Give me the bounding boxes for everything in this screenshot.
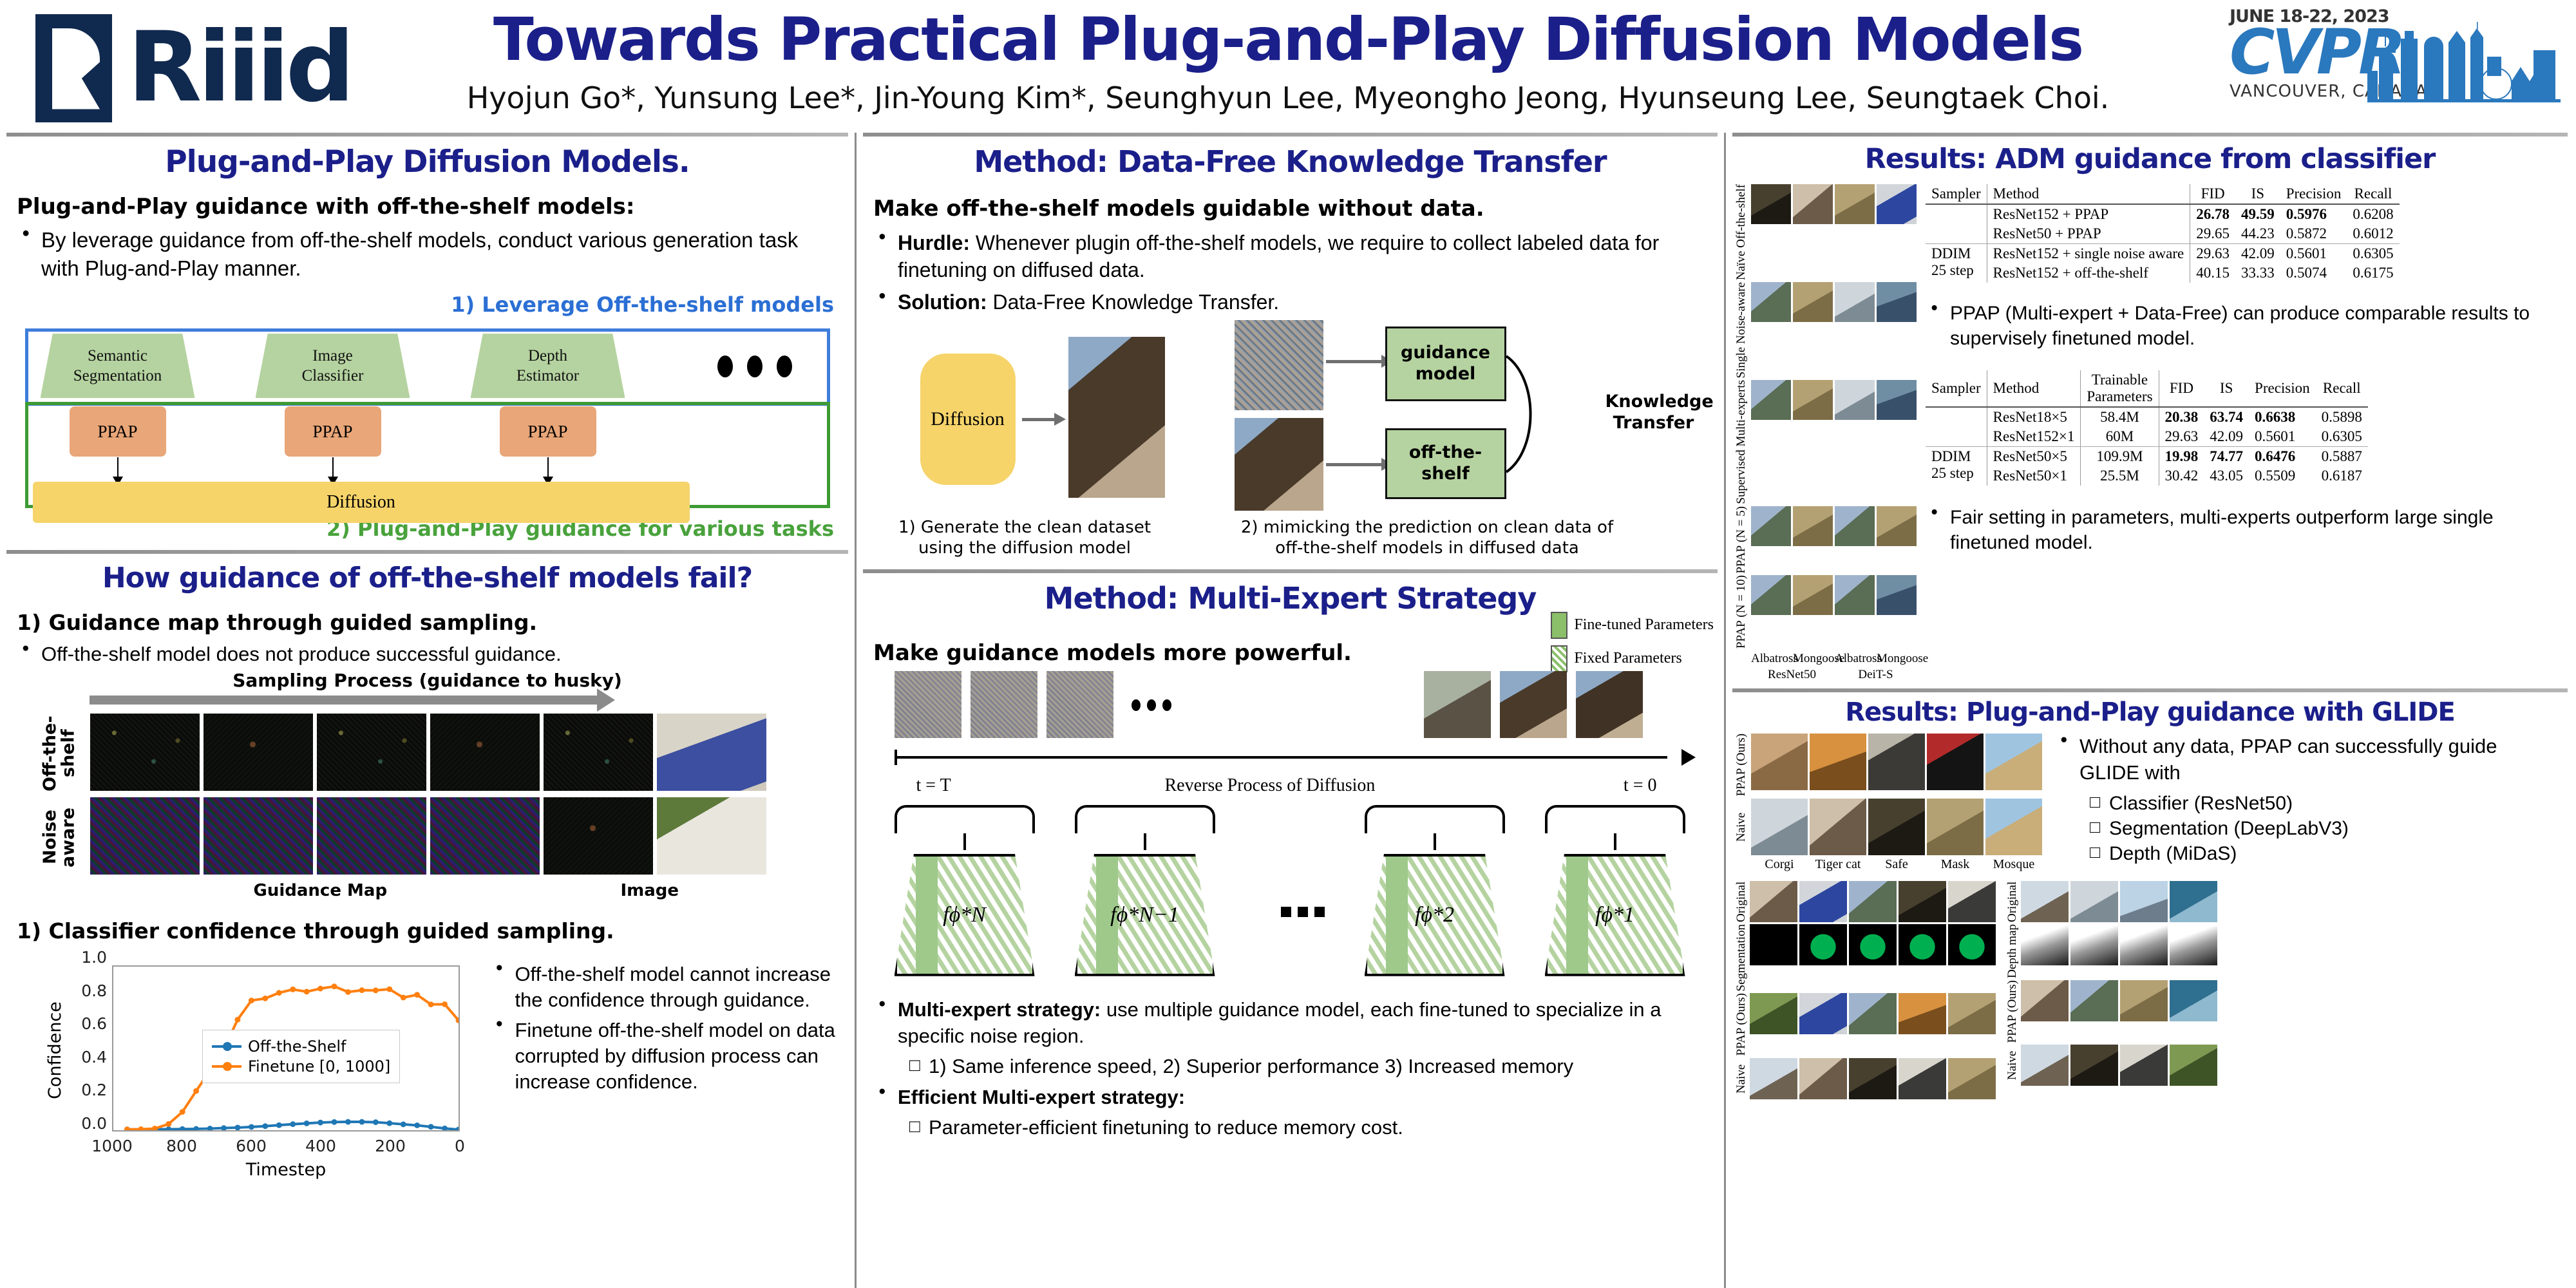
cell-recall: 0.6305 xyxy=(2316,427,2368,447)
expert-label: fϕ*1 xyxy=(1595,903,1634,927)
sample-image xyxy=(1927,734,1984,790)
bullet-list-ppdm: By leverage guidance from off-the-shelf … xyxy=(17,226,838,282)
sample-image xyxy=(2021,881,2069,922)
noise-step-image xyxy=(971,671,1037,738)
segmentation-map xyxy=(1750,924,1797,965)
sample-image xyxy=(1849,881,1897,922)
section-ppdm: Plug-and-Play Diffusion Models. Plug-and… xyxy=(0,144,855,541)
legend-label: Finetune [0, 1000] xyxy=(248,1057,390,1075)
divider xyxy=(1732,688,2568,692)
arrow-right-icon xyxy=(1326,360,1383,363)
section-title-ppdm: Plug-and-Play Diffusion Models. xyxy=(17,144,838,180)
sample-image xyxy=(2120,1045,2168,1086)
section-guidance-fail: How guidance of off-the-shelf models fai… xyxy=(0,562,855,1179)
green-swatch-icon xyxy=(1551,612,1567,639)
sample-image xyxy=(1751,799,1808,855)
riiid-wordmark: Riiid xyxy=(128,22,351,114)
expert-model-1: fϕ*1 xyxy=(1545,854,1685,976)
sub-list-item: Parameter-efficient finetuning to reduce… xyxy=(904,1115,1707,1141)
cell-params: 25.5M xyxy=(2081,466,2159,486)
list-item: Off-the-shelf model cannot increase the … xyxy=(490,961,838,1014)
process-arrow-icon xyxy=(90,696,598,705)
sample-image xyxy=(2021,980,2069,1021)
cell-sampler: DDIM 25 step xyxy=(1926,447,1987,486)
chart-xtick: 400 xyxy=(295,1137,346,1155)
bullet-text: Data-Free Knowledge Transfer. xyxy=(987,290,1280,314)
section-title-guidance-fail: How guidance of off-the-shelf models fai… xyxy=(17,562,838,594)
row-label-naive: Naïve Off-the-shelf xyxy=(1735,184,1749,280)
col-header-method: Method xyxy=(1987,184,2190,204)
list-item: Fair setting in parameters, multi-expert… xyxy=(1926,505,2565,555)
cell-fid: 29.65 xyxy=(2190,224,2235,244)
cell-recall: 0.5887 xyxy=(2316,447,2368,467)
cell-precision: 0.6476 xyxy=(2249,447,2316,467)
section-glide-results: Results: Plug-and-Play guidance with GLI… xyxy=(1726,697,2574,1099)
list-item: Finetune off-the-shelf model on data cor… xyxy=(490,1018,838,1095)
clean-koala-image xyxy=(1068,337,1165,498)
sample-image xyxy=(1799,1058,1847,1099)
result-image-cell xyxy=(657,797,766,875)
table-row: DDIM 25 step ResNet50×5 109.9M 19.98 74.… xyxy=(1926,447,2368,467)
caption-guidance-map: Guidance Map xyxy=(254,881,388,900)
adm-image-captions: Albatross Mongoose Albatross Mongoose xyxy=(1735,652,1917,666)
box-semantic-segmentation: Semantic Segmentation xyxy=(41,334,195,398)
chart-ytick: 0.8 xyxy=(48,981,107,1000)
noise-step-image xyxy=(1046,671,1113,738)
bullet-list-multi-expert: Multi-expert strategy: use multiple guid… xyxy=(873,997,1707,1142)
segmentation-map xyxy=(1899,924,1946,965)
col-header-sampler: Sampler xyxy=(1926,184,1987,204)
cell-params: 109.9M xyxy=(2081,447,2159,467)
expert-model-N-1: fϕ*N−1 xyxy=(1075,854,1215,976)
denoised-step-image xyxy=(1500,671,1567,738)
list-item-multi-expert: Multi-expert strategy: use multiple guid… xyxy=(873,997,1707,1080)
section-data-free-kt: Method: Data-Free Knowledge Transfer Mak… xyxy=(857,144,1724,559)
axis-labels-row: t = T Reverse Process of Diffusion t = 0 xyxy=(888,775,1693,800)
caption-leverage: 1) Leverage Off-the-shelf models xyxy=(17,292,834,317)
list-item-efficient: Efficient Multi-expert strategy: Paramet… xyxy=(873,1084,1707,1141)
results-table-1: Sampler Method FID IS Precision Recall R… xyxy=(1926,184,2400,283)
legend-label: Fixed Parameters xyxy=(1574,650,1681,667)
col-header-method: Method xyxy=(1987,370,2081,407)
sample-image xyxy=(1751,506,1791,546)
row-label-ppap-ours: PPAP (Ours) xyxy=(1735,734,1749,796)
diffusion-box: Diffusion xyxy=(33,482,690,523)
author-list: Hyojun Go*, Yunsung Lee*, Jin-Young Kim*… xyxy=(361,80,2215,115)
riiid-logo: Riiid xyxy=(35,12,351,124)
guidance-map-cell xyxy=(90,797,200,875)
cell-is: 74.77 xyxy=(2204,447,2249,467)
section-title-data-free-kt: Method: Data-Free Knowledge Transfer xyxy=(873,144,1707,179)
parameter-legend: Fine-tuned Parameters Fixed Parameters xyxy=(1551,612,1714,679)
bullet-list-adm-1: PPAP (Multi-expert + Data-Free) can prod… xyxy=(1926,301,2565,351)
sample-image xyxy=(1899,881,1946,922)
sample-image xyxy=(1810,734,1866,790)
guidance-map-cell xyxy=(544,797,653,875)
legend-entry-fixed: Fixed Parameters xyxy=(1551,645,1714,672)
section-multi-expert: Method: Multi-Expert Strategy Fine-tuned… xyxy=(857,581,1724,1142)
axis-arrow-icon xyxy=(1681,749,1696,766)
right-column: Results: ADM guidance from classifier Na… xyxy=(1726,133,2574,1288)
row-label-segmentation: Segmentation xyxy=(1735,924,1748,991)
box-label-line2: Classifier xyxy=(302,366,364,386)
chart-xtick: 600 xyxy=(225,1137,277,1155)
sample-image xyxy=(1835,380,1875,420)
image-caption: Corgi xyxy=(1751,857,1808,872)
sample-image xyxy=(1877,506,1917,546)
bullet-label: Hurdle: xyxy=(898,231,970,254)
bullet-list-data-free: Hurdle: Whenever plugin off-the-shelf mo… xyxy=(873,229,1707,316)
sample-image xyxy=(1751,380,1791,420)
list-item: Without any data, PPAP can successfully … xyxy=(2055,734,2557,866)
row-label-line1: Off-the- xyxy=(40,715,60,791)
adm-results-body: Naïve Off-the-shelf Single Noise-aware xyxy=(1735,184,2565,682)
row-label-supervised: Supervised Multi-experts xyxy=(1735,380,1749,504)
grid-row-ppap5: PPAP (N = 5) xyxy=(1735,506,1917,574)
list-item-hurdle: Hurdle: Whenever plugin off-the-shelf mo… xyxy=(873,229,1707,283)
box-label-line2: model xyxy=(1416,364,1476,384)
row-label-depth-map: Depth map xyxy=(2006,924,2019,978)
caption-line2: using the diffusion model xyxy=(918,538,1131,558)
image-caption: Mosque xyxy=(1985,857,2042,872)
cell-method: ResNet50×5 xyxy=(1987,447,2081,467)
sample-image xyxy=(1985,799,2042,855)
cell-params: 60M xyxy=(2081,427,2159,447)
sample-image xyxy=(1810,799,1866,855)
guidance-map-cell xyxy=(430,797,540,875)
glide-body: PPAP (Ours) Naive xyxy=(1735,734,2565,871)
ellipsis-dots-icon xyxy=(717,355,792,377)
sample-image xyxy=(2070,1045,2118,1086)
adm-tables-column: Sampler Method FID IS Precision Recall R… xyxy=(1926,184,2565,682)
sample-image xyxy=(1793,506,1833,546)
glide-row-ppap: PPAP (Ours) xyxy=(1735,734,2042,796)
glide-text-block: Without any data, PPAP can successfully … xyxy=(2055,734,2557,871)
expert-model-2: fϕ*2 xyxy=(1365,854,1505,976)
model-caption-left: ResNet50 xyxy=(1751,668,1833,682)
sample-image xyxy=(1793,184,1833,224)
sample-image xyxy=(1835,575,1875,615)
title-block: Towards Practical Plug-and-Play Diffusio… xyxy=(361,9,2215,115)
final-image xyxy=(1576,671,1643,738)
axis-label-t-0: t = 0 xyxy=(1624,775,1657,796)
divider xyxy=(1732,133,2568,137)
chart-xtick: 0 xyxy=(434,1137,486,1155)
cell-precision: 0.5074 xyxy=(2280,263,2347,283)
sub-list-item: Classifier (ResNet50) xyxy=(2085,791,2557,816)
guidance-map-cell xyxy=(317,714,426,791)
sub-list-item: 1) Same inference speed, 2) Superior per… xyxy=(904,1054,1707,1080)
sample-image xyxy=(2120,980,2168,1021)
cell-recall: 0.6187 xyxy=(2316,466,2368,486)
bullet-label: Solution: xyxy=(898,290,987,314)
off-the-shelf-box: off-the-shelf xyxy=(1385,428,1506,499)
col-header-is: IS xyxy=(2235,184,2280,204)
riiid-mark-icon xyxy=(35,14,112,122)
results-table-2: Sampler Method Trainable Parameters FID … xyxy=(1926,370,2368,486)
confidence-chart-row: Confidence Off-the-Shelf xyxy=(17,947,838,1179)
bullet-text: Without any data, PPAP can successfully … xyxy=(2079,735,2497,783)
sample-image xyxy=(1835,506,1875,546)
section-title-multi-expert: Method: Multi-Expert Strategy xyxy=(873,581,1707,616)
cell-recall: 0.6012 xyxy=(2347,224,2399,244)
glide-row-naive: Naive xyxy=(1735,799,2042,855)
bottom-row-depthmap: Depth map xyxy=(2006,924,2217,978)
cell-fid: 19.98 xyxy=(2159,447,2204,467)
chart-ytick: 0.4 xyxy=(48,1048,107,1066)
bullet-list-guidance-map: Off-the-shelf model does not produce suc… xyxy=(17,643,838,666)
box-label-line1: Semantic xyxy=(88,346,147,366)
cell-fid: 30.42 xyxy=(2159,466,2204,486)
subsection-guidance-map: 1) Guidance map through guided sampling. xyxy=(17,610,838,635)
guidance-map-cell xyxy=(204,797,313,875)
legend-label: Off-the-Shelf xyxy=(248,1037,346,1056)
bottom-row-segmentation: Segmentation xyxy=(1735,924,1996,991)
cell-is: 42.09 xyxy=(2204,427,2249,447)
col-header-precision: Precision xyxy=(2249,370,2316,407)
axis-label-t-T: t = T xyxy=(916,775,951,796)
sample-image xyxy=(1868,734,1925,790)
ppap-architecture-diagram: Semantic Segmentation Image Classifier D… xyxy=(25,319,830,513)
cell-recall: 0.6305 xyxy=(2347,244,2399,264)
caption-step2: 2) mimicking the prediction on clean dat… xyxy=(1176,517,1678,559)
chart-ytick: 0.6 xyxy=(48,1014,107,1033)
cell-precision: 0.5601 xyxy=(2249,427,2316,447)
sample-image xyxy=(1835,282,1875,322)
cell-fid: 29.63 xyxy=(2190,244,2235,264)
row-label-original: Original xyxy=(1735,881,1748,922)
box-label-line1: guidance xyxy=(1401,343,1490,363)
cell-method: ResNet50×1 xyxy=(1987,466,2081,486)
row-label-ppap-ours: PPAP (Ours) xyxy=(2006,980,2019,1043)
cell-precision: 0.6638 xyxy=(2249,407,2316,427)
row-label-naive: Naive xyxy=(2006,1045,2019,1086)
legend-entry-off-the-shelf: Off-the-Shelf xyxy=(212,1037,390,1056)
image-caption: Mongoose xyxy=(1877,652,1917,666)
cell-fid: 26.78 xyxy=(2190,204,2235,224)
sampling-process-figure: Sampling Process (guidance to husky) Off… xyxy=(41,670,814,882)
cell-precision: 0.5976 xyxy=(2280,204,2347,224)
ellipsis-dots-icon xyxy=(1281,907,1325,917)
box-label-line2: Estimator xyxy=(516,366,579,386)
sub-list: 1) Same inference speed, 2) Superior per… xyxy=(904,1054,1707,1080)
sample-image xyxy=(1751,282,1791,322)
arrow-right-icon xyxy=(1326,463,1383,466)
image-row-off-the-shelf xyxy=(90,714,766,791)
cell-params: 58.4M xyxy=(2081,407,2159,427)
axis-bar xyxy=(895,756,1667,759)
list-item: Off-the-shelf model does not produce suc… xyxy=(17,643,838,666)
divider xyxy=(6,550,848,554)
caption-line1: 1) Generate the clean dataset xyxy=(898,518,1151,537)
sample-image xyxy=(1750,1058,1797,1099)
divider xyxy=(6,133,848,137)
box-label-line1: Depth xyxy=(528,346,567,366)
cell-is: 63.74 xyxy=(2204,407,2249,427)
cell-is: 44.23 xyxy=(2235,224,2280,244)
arrow-right-icon xyxy=(1022,418,1056,421)
box-label-line2: Segmentation xyxy=(73,366,162,386)
adm-image-grid: Naïve Off-the-shelf Single Noise-aware xyxy=(1735,184,1917,682)
grid-row-naive: Naïve Off-the-shelf xyxy=(1735,184,1917,280)
col-header-fid: FID xyxy=(2190,184,2235,204)
col-header-recall: Recall xyxy=(2347,184,2399,204)
middle-column: Method: Data-Free Knowledge Transfer Mak… xyxy=(857,133,1726,1288)
chart-xtick: 200 xyxy=(365,1137,416,1155)
chart-ytick: 0.0 xyxy=(48,1114,107,1133)
ppap-box-1: PPAP xyxy=(70,406,166,457)
sub-list: Parameter-efficient finetuning to reduce… xyxy=(904,1115,1707,1141)
sample-image xyxy=(1877,575,1917,615)
sample-image xyxy=(2120,881,2168,922)
image-caption: Mongoose xyxy=(1793,652,1833,666)
cell-is: 43.05 xyxy=(2204,466,2249,486)
col-header-fid: FID xyxy=(2159,370,2204,407)
sample-image xyxy=(2170,980,2217,1021)
denoised-step-image xyxy=(1424,671,1491,738)
table-header-row: Sampler Method Trainable Parameters FID … xyxy=(1926,370,2368,407)
divider xyxy=(863,569,1718,573)
denoising-strip xyxy=(888,671,1693,742)
bottom-row-original: Original xyxy=(1735,881,1996,922)
cell-method: ResNet50 + PPAP xyxy=(1987,224,2190,244)
cell-precision: 0.5872 xyxy=(2280,224,2347,244)
sample-image xyxy=(1751,184,1791,224)
cell-method: ResNet152 + off-the-shelf xyxy=(1987,263,2190,283)
table-row: ResNet152 + off-the-shelf 40.15 33.33 0.… xyxy=(1926,263,2400,283)
noisy-koala-image xyxy=(1235,320,1323,410)
row-label-line2: shelf xyxy=(58,730,78,778)
legend-entry-finetuned: Fine-tuned Parameters xyxy=(1551,612,1714,639)
legend-entry-finetune: Finetune [0, 1000] xyxy=(212,1057,390,1075)
legend-label: Fine-tuned Parameters xyxy=(1574,616,1714,634)
sample-image xyxy=(1948,881,1996,922)
sample-image xyxy=(1750,993,1797,1034)
glide-captions: Corgi Tiger cat Safe Mask Mosque xyxy=(1735,857,2042,872)
row-label-noise-aware: Noise aware xyxy=(41,797,81,877)
cell-recall: 0.5898 xyxy=(2316,407,2368,427)
label-line2: Transfer xyxy=(1613,413,1694,433)
sample-image xyxy=(1793,575,1833,615)
table-row: DDIM 25 step ResNet152 + single noise aw… xyxy=(1926,244,2400,264)
knowledge-transfer-bracket-icon xyxy=(1504,350,1553,478)
grid-row-ppap10: PPAP (N = 10) xyxy=(1735,575,1917,649)
cell-fid: 29.63 xyxy=(2159,427,2204,447)
caption-step1: 1) Generate the clean dataset using the … xyxy=(873,517,1176,559)
sample-image xyxy=(1793,282,1833,322)
bullet-list-glide: Without any data, PPAP can successfully … xyxy=(2055,734,2557,866)
sample-image xyxy=(2170,1045,2217,1086)
col-header-is: IS xyxy=(2204,370,2249,407)
row-label-ppap-ours: PPAP (Ours) xyxy=(1735,993,1748,1056)
bullet-list-adm-2: Fair setting in parameters, multi-expert… xyxy=(1926,505,2565,555)
grid-row-single: Single Noise-aware xyxy=(1735,282,1917,378)
guidance-map-cell xyxy=(430,714,540,791)
bottom-row-original-2: Original xyxy=(2006,881,2217,922)
sample-image xyxy=(1849,1058,1897,1099)
cell-is: 49.59 xyxy=(2235,204,2280,224)
bullet-list-confidence: Off-the-shelf model cannot increase the … xyxy=(490,961,838,1179)
image-caption: Mask xyxy=(1927,857,1984,872)
cell-fid: 20.38 xyxy=(2159,407,2204,427)
chart-xtick: 1000 xyxy=(86,1137,138,1155)
guidance-map-cell xyxy=(90,714,200,791)
page-title: Towards Practical Plug-and-Play Diffusio… xyxy=(361,9,2215,71)
table-row: ResNet152×1 60M 29.63 42.09 0.5601 0.630… xyxy=(1926,427,2368,447)
cell-precision: 0.5509 xyxy=(2249,466,2316,486)
expert-models-row: fϕ*N fϕ*N−1 fϕ*2 fϕ*1 xyxy=(888,805,1693,947)
col-header-precision: Precision xyxy=(2280,184,2347,204)
caption-line2: off-the-shelf models in diffused data xyxy=(1275,538,1579,558)
ellipsis-dots-icon xyxy=(1132,699,1171,711)
sample-image xyxy=(1877,282,1917,322)
sample-image xyxy=(1793,380,1833,420)
label-line1: Knowledge xyxy=(1605,392,1714,412)
lead-ppdm: Plug-and-Play guidance with off-the-shel… xyxy=(17,194,838,220)
chart-xlabel: Timestep xyxy=(112,1160,460,1180)
image-caption: Safe xyxy=(1868,857,1925,872)
guidance-map-cell xyxy=(317,797,426,875)
sample-image xyxy=(1899,993,1946,1034)
kt-captions-row: 1) Generate the clean dataset using the … xyxy=(873,517,1707,559)
cell-is: 42.09 xyxy=(2235,244,2280,264)
left-column: Plug-and-Play Diffusion Models. Plug-and… xyxy=(0,133,857,1288)
cell-recall: 0.6208 xyxy=(2347,204,2399,224)
sample-image xyxy=(1751,734,1808,790)
expert-label: fϕ*N xyxy=(943,903,986,927)
sample-image xyxy=(1948,993,1996,1034)
sub-list-item: Depth (MiDaS) xyxy=(2085,841,2557,866)
cell-method: ResNet152×1 xyxy=(1987,427,2081,447)
bottom-row-naive-2: Naive xyxy=(2006,1045,2217,1086)
grid-row-supervised: Supervised Multi-experts xyxy=(1735,380,1917,504)
segmentation-map xyxy=(1799,924,1847,965)
cell-is: 33.33 xyxy=(2235,263,2280,283)
hatched-swatch-icon xyxy=(1551,645,1567,672)
chart-legend: Off-the-Shelf Finetune [0, 1000] xyxy=(202,1030,400,1083)
row-label-original: Original xyxy=(2006,881,2019,922)
list-item-solution: Solution: Data-Free Knowledge Transfer. xyxy=(873,289,1707,316)
depth-map xyxy=(2021,924,2069,965)
cell-sampler: DDIM 25 step xyxy=(1926,244,1987,283)
sample-image xyxy=(1868,799,1925,855)
row-label-line1: Noise xyxy=(40,810,60,865)
vancouver-skyline-icon xyxy=(2367,19,2561,103)
bullet-text: Whenever plugin off-the-shelf models, we… xyxy=(898,231,1659,281)
depth-map xyxy=(2070,924,2118,965)
expert-label: fϕ*N−1 xyxy=(1110,903,1179,927)
knowledge-transfer-diagram: Diffusion guidance model off-the-shelf K… xyxy=(875,320,1706,513)
cell-method: ResNet152 + PPAP xyxy=(1987,204,2190,224)
clean-koala-image-2 xyxy=(1235,418,1323,511)
lead-data-free: Make off-the-shelf models guidable witho… xyxy=(873,196,1707,222)
chart-xtick: 800 xyxy=(156,1137,207,1155)
guidance-map-cell xyxy=(544,714,653,791)
divider xyxy=(863,133,1718,137)
axis-label-reverse: Reverse Process of Diffusion xyxy=(1165,775,1376,796)
table-row: ResNet18×5 58.4M 20.38 63.74 0.6638 0.58… xyxy=(1926,407,2368,427)
sample-image xyxy=(1835,184,1875,224)
cell-method: ResNet18×5 xyxy=(1987,407,2081,427)
bottom-row-naive: Naive xyxy=(1735,1058,1996,1099)
sample-image xyxy=(1799,881,1847,922)
row-label-ppap-n5: PPAP (N = 5) xyxy=(1735,506,1749,574)
poster-header: Riiid Towards Practical Plug-and-Play Di… xyxy=(0,0,2576,133)
list-item: PPAP (Multi-expert + Data-Free) can prod… xyxy=(1926,301,2565,351)
sample-image xyxy=(2170,881,2217,922)
caption-line1: 2) mimicking the prediction on clean dat… xyxy=(1241,518,1613,537)
box-depth-estimator: Depth Estimator xyxy=(471,334,625,398)
